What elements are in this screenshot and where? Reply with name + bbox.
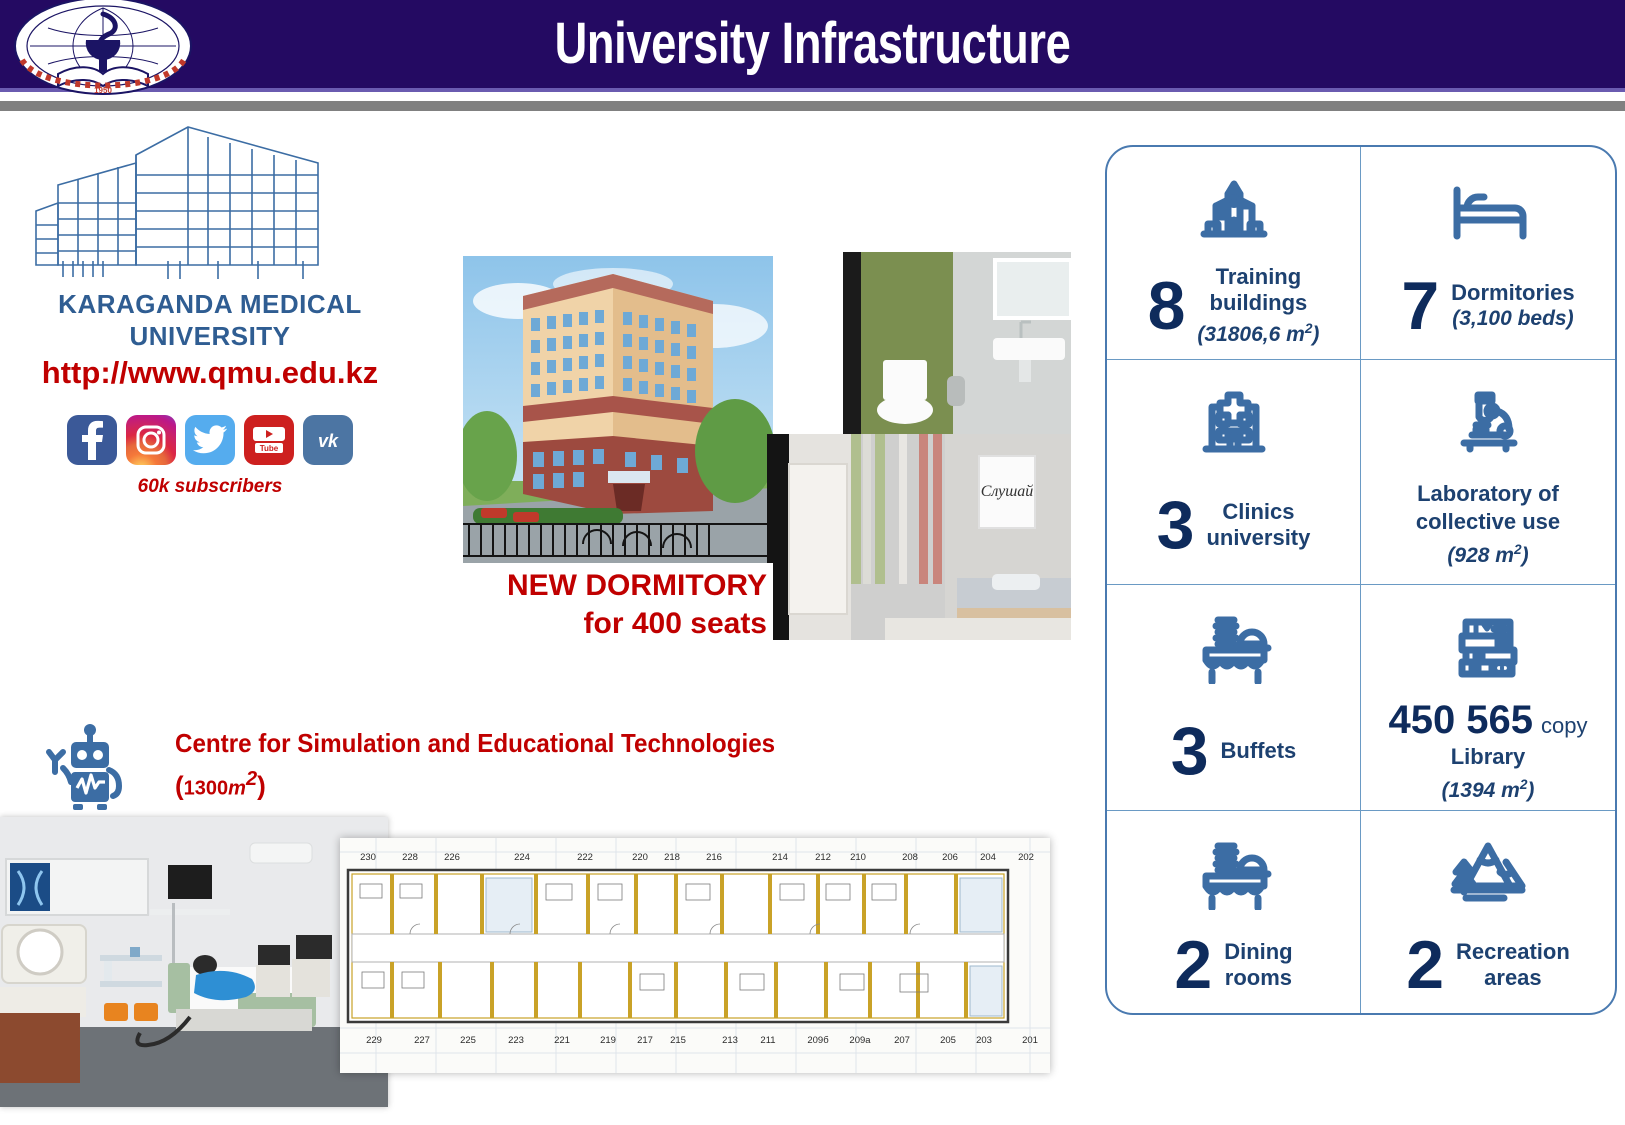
- stat-label-line1: Library: [1451, 744, 1526, 770]
- instagram-icon[interactable]: [126, 415, 176, 465]
- svg-text:204: 204: [980, 852, 996, 863]
- svg-text:Tube: Tube: [260, 444, 279, 453]
- logo-year: 1950: [94, 86, 112, 95]
- simulation-centre-area: (1300m2): [175, 768, 266, 802]
- svg-text:222: 222: [577, 852, 593, 863]
- mountains-icon: [1444, 825, 1532, 917]
- svg-text:216: 216: [706, 852, 722, 863]
- dormitory-caption-line2: for 400 seats: [463, 605, 767, 643]
- dormitory-caption-line1: NEW DORMITORY: [463, 567, 767, 605]
- stat-body: 3 Clinics university: [1107, 466, 1360, 585]
- stat-label-line1: Buffets: [1221, 738, 1297, 764]
- svg-text:Слушай: Слушай: [981, 483, 1034, 500]
- stat-sub-text: (1394 m: [1442, 779, 1520, 802]
- sim-area-close: ): [257, 771, 266, 801]
- svg-text:210: 210: [850, 852, 866, 863]
- svg-text:217: 217: [637, 1035, 653, 1046]
- stat-sub: (3,100 beds): [1451, 306, 1574, 332]
- facebook-icon[interactable]: [67, 415, 117, 465]
- stat-number: 3: [1171, 718, 1209, 784]
- microscope-icon: [1448, 374, 1528, 466]
- university-building-icon: [1194, 161, 1274, 253]
- svg-text:214: 214: [772, 852, 788, 863]
- stat-cell-clinics: 3 Clinics university: [1107, 360, 1361, 586]
- svg-text:205: 205: [940, 1035, 956, 1046]
- stat-body: 3 Buffets: [1107, 691, 1360, 810]
- page-title: University Infrastructure: [179, 8, 1447, 80]
- dormitory-caption: NEW DORMITORY for 400 seats: [463, 563, 773, 649]
- simulation-centre-title: Centre for Simulation and Educational Te…: [175, 728, 882, 759]
- header-gray-bar: [0, 101, 1625, 111]
- svg-text:202: 202: [1018, 852, 1034, 863]
- stat-sub: (1394 m2): [1442, 772, 1535, 804]
- stat-number: 8: [1148, 273, 1186, 339]
- stat-label-line2: buildings: [1197, 290, 1319, 316]
- stat-body: Laboratory of collective use (928 m2): [1361, 466, 1615, 585]
- stat-label-line2: rooms: [1224, 965, 1292, 991]
- stat-label-line1: Training: [1197, 264, 1319, 290]
- stat-sub: (31806,6 m2): [1197, 316, 1319, 348]
- stat-text: Dormitories (3,100 beds): [1451, 280, 1574, 332]
- header-white-bar: [0, 92, 1625, 101]
- simulation-room-photo: [0, 817, 388, 1107]
- stat-cell-buffets: 3 Buffets: [1107, 585, 1361, 811]
- buffet-table-icon: [1192, 825, 1276, 917]
- sim-area-unit-sup: 2: [246, 768, 257, 790]
- stat-sub-close: ): [1522, 544, 1529, 567]
- svg-text:212: 212: [815, 852, 831, 863]
- dormitory-bathroom-photo: [843, 252, 1071, 442]
- svg-text:227: 227: [414, 1035, 430, 1046]
- svg-text:230: 230: [360, 852, 376, 863]
- stat-label-line1: Laboratory of: [1417, 481, 1559, 507]
- svg-text:218: 218: [664, 852, 680, 863]
- buffet-table-icon: [1192, 599, 1276, 691]
- stat-label-line1: Clinics: [1206, 499, 1310, 525]
- bed-icon: [1445, 161, 1531, 253]
- svg-text:228: 228: [402, 852, 418, 863]
- svg-text:224: 224: [514, 852, 530, 863]
- svg-text:201: 201: [1022, 1035, 1038, 1046]
- svg-text:vk: vk: [318, 431, 339, 450]
- stat-cell-recreation-areas: 2 Recreation areas: [1361, 811, 1615, 1013]
- svg-text:203: 203: [976, 1035, 992, 1046]
- stat-number: 2: [1406, 932, 1444, 998]
- subscribers-count: 60k subscribers: [0, 476, 420, 498]
- stat-body: 7 Dormitories (3,100 beds): [1361, 253, 1615, 359]
- svg-text:226: 226: [444, 852, 460, 863]
- stat-cell-library: 450 565 copy Library (1394 m2): [1361, 585, 1615, 811]
- stat-label-line1: Recreation: [1456, 939, 1570, 965]
- sim-area-open: (: [175, 771, 184, 801]
- svg-text:229: 229: [366, 1035, 382, 1046]
- stat-number-unit: copy: [1541, 713, 1587, 739]
- dormitory-room-photo: Слушай: [767, 434, 1071, 640]
- stat-number: 7: [1401, 273, 1439, 339]
- stat-cell-dining-rooms: 2 Dining rooms: [1107, 811, 1361, 1013]
- stat-body: 450 565 copy Library (1394 m2): [1361, 691, 1615, 810]
- svg-text:207: 207: [894, 1035, 910, 1046]
- youtube-icon[interactable]: Tube: [244, 415, 294, 465]
- stat-cell-dormitories: 7 Dormitories (3,100 beds): [1361, 147, 1615, 360]
- stat-sub-text: (31806,6 m: [1197, 323, 1304, 346]
- university-url[interactable]: http://www.qmu.edu.kz: [0, 355, 420, 391]
- stat-label-line2: areas: [1456, 965, 1570, 991]
- stat-label-line2: university: [1206, 525, 1310, 551]
- stat-text: Dining rooms: [1224, 939, 1292, 991]
- svg-text:219: 219: [600, 1035, 616, 1046]
- sim-area-number: 1300: [184, 778, 229, 800]
- stat-text: Training buildings (31806,6 m2): [1197, 264, 1319, 348]
- stat-label-line1: Dormitories: [1451, 280, 1574, 306]
- svg-text:209а: 209а: [849, 1035, 871, 1046]
- new-dormitory-render-photo: [463, 256, 773, 566]
- stat-cell-training-buildings: 8 Training buildings (31806,6 m2): [1107, 147, 1361, 360]
- stat-sub: (928 m2): [1447, 537, 1528, 569]
- stat-label-line2: collective use: [1416, 509, 1560, 535]
- svg-text:225: 225: [460, 1035, 476, 1046]
- library-count-row: 450 565 copy: [1388, 698, 1587, 742]
- stat-number: 2: [1174, 932, 1212, 998]
- stat-sub-text: (928 m: [1447, 544, 1514, 567]
- stat-number: 450 565: [1388, 698, 1533, 742]
- stat-body: 2 Dining rooms: [1107, 917, 1360, 1013]
- svg-text:213: 213: [722, 1035, 738, 1046]
- svg-text:221: 221: [554, 1035, 570, 1046]
- stat-sub-sup: 2: [1514, 542, 1522, 557]
- svg-text:215: 215: [670, 1035, 686, 1046]
- svg-text:209б: 209б: [807, 1035, 829, 1046]
- sim-area-unit: m: [228, 778, 246, 800]
- clinic-icon: [1194, 374, 1274, 466]
- stat-label-line1: Dining: [1224, 939, 1292, 965]
- floor-plan-image: 230228226 224222220 218216214 212210208 …: [340, 838, 1050, 1073]
- svg-text:223: 223: [508, 1035, 524, 1046]
- university-logo: 1950: [8, 0, 198, 98]
- stat-sub-close: ): [1312, 323, 1319, 346]
- stat-body: 8 Training buildings (31806,6 m2): [1107, 253, 1360, 359]
- svg-text:211: 211: [760, 1035, 775, 1046]
- stat-body: 2 Recreation areas: [1361, 917, 1615, 1013]
- vk-icon[interactable]: vk: [303, 415, 353, 465]
- social-links: Tube vk: [0, 415, 420, 465]
- twitter-icon[interactable]: [185, 415, 235, 465]
- stat-sub-close: ): [1527, 779, 1534, 802]
- infrastructure-stats-grid: 8 Training buildings (31806,6 m2) 7 Dorm…: [1105, 145, 1617, 1015]
- svg-text:206: 206: [942, 852, 958, 863]
- university-building-sketch: [18, 115, 348, 280]
- stat-text: Recreation areas: [1456, 939, 1570, 991]
- stat-number: 3: [1157, 492, 1195, 558]
- university-name-line1: KARAGANDA MEDICAL: [0, 288, 420, 320]
- robot-icon: [45, 720, 135, 810]
- stat-text: Clinics university: [1206, 499, 1310, 551]
- svg-text:220: 220: [632, 852, 648, 863]
- svg-text:208: 208: [902, 852, 918, 863]
- stat-cell-laboratory: Laboratory of collective use (928 m2): [1361, 360, 1615, 586]
- university-name-line2: UNIVERSITY: [0, 320, 420, 352]
- university-name: KARAGANDA MEDICAL UNIVERSITY: [0, 288, 420, 352]
- books-icon: [1446, 599, 1530, 691]
